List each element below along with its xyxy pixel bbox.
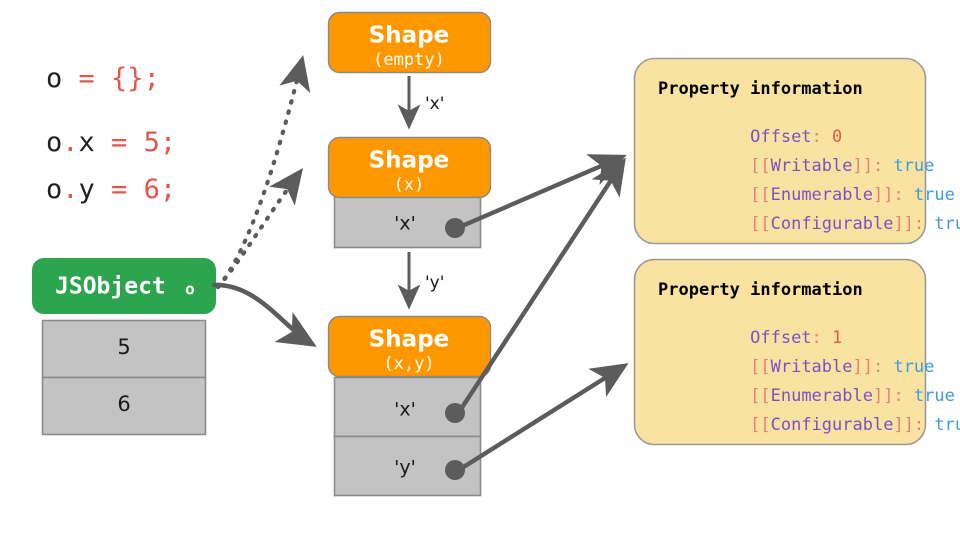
- code-line-2: o.y = 6;: [46, 174, 176, 205]
- shape-empty-title: Shape: [369, 23, 450, 49]
- property-panel-0-row-3: [[Configurable]]: true: [658, 214, 960, 234]
- jsobject-header: JSObject o: [32, 258, 216, 314]
- transition-label-x: 'x': [425, 94, 444, 114]
- diagram-canvas: o = {}; o.x = 5; o.y = 6; 5 6 JSObject o: [0, 0, 960, 540]
- property-panel-0-row-2: [[Enumerable]]: true: [658, 185, 960, 205]
- jsobject-variable: o: [185, 280, 195, 299]
- shape-xy-slot-1-label: 'y': [394, 457, 416, 479]
- code-snippet: o = {}; o.x = 5; o.y = 6;: [46, 63, 176, 205]
- shape-x-slot-0-label: 'x': [394, 213, 416, 235]
- transition-label-y: 'y': [425, 273, 444, 293]
- property-panel-0-row-1: [[Writable]]: true: [658, 156, 960, 176]
- shape-xy-slot-0-label: 'x': [394, 399, 416, 421]
- jsobject-to-shape-x-pointer: [218, 172, 300, 287]
- shape-empty-subtitle: (empty): [373, 50, 445, 70]
- jsobject-slot-1-value: 6: [117, 392, 130, 416]
- shape-transition-diagram: o = {}; o.x = 5; o.y = 6; 5 6 JSObject o: [0, 0, 960, 540]
- jsobject-title: JSObject: [55, 274, 166, 300]
- jsobject-to-shape-xy-pointer: [214, 285, 312, 344]
- shape-xy-slot-x-to-panel-0-arrow: [461, 162, 623, 409]
- property-panel-1-row-1: [[Writable]]: true: [658, 357, 960, 377]
- shape-xy-slot-1-connector-dot: [445, 460, 465, 480]
- property-panel-1-heading: Property information: [658, 280, 863, 300]
- shape-xy-subtitle: (x,y): [383, 354, 434, 374]
- shape-node-xy: 'x' 'y' Shape (x,y): [329, 317, 491, 496]
- property-panel-0-heading: Property information: [658, 79, 863, 99]
- shape-xy-title: Shape: [369, 327, 450, 353]
- property-panel-1-row-3: [[Configurable]]: true: [658, 415, 960, 435]
- shape-xy-slot-y-to-panel-1-arrow: [462, 366, 624, 468]
- jsobject-to-shape-empty-pointer: [218, 60, 302, 287]
- shape-node-empty: Shape (empty): [329, 13, 491, 73]
- code-line-0: o = {};: [46, 63, 160, 94]
- code-line-1: o.x = 5;: [46, 127, 176, 158]
- property-panel-0: Property information Offset: 0 [[Writabl…: [635, 59, 960, 244]
- property-panel-1-row-0: Offset: 1: [658, 328, 914, 348]
- shape-node-x: 'x' Shape (x): [329, 138, 491, 248]
- property-panel-1: Property information Offset: 1 [[Writabl…: [635, 260, 960, 445]
- jsobject-slot-list: 5 6: [43, 321, 206, 435]
- property-panel-1-row-2: [[Enumerable]]: true: [658, 386, 960, 406]
- property-panel-0-row-0: Offset: 0: [658, 127, 914, 147]
- shape-x-subtitle: (x): [394, 175, 425, 195]
- shape-x-title: Shape: [369, 148, 450, 174]
- shape-x-slot-0-connector-dot: [445, 218, 465, 238]
- jsobject-slot-0-value: 5: [117, 335, 130, 359]
